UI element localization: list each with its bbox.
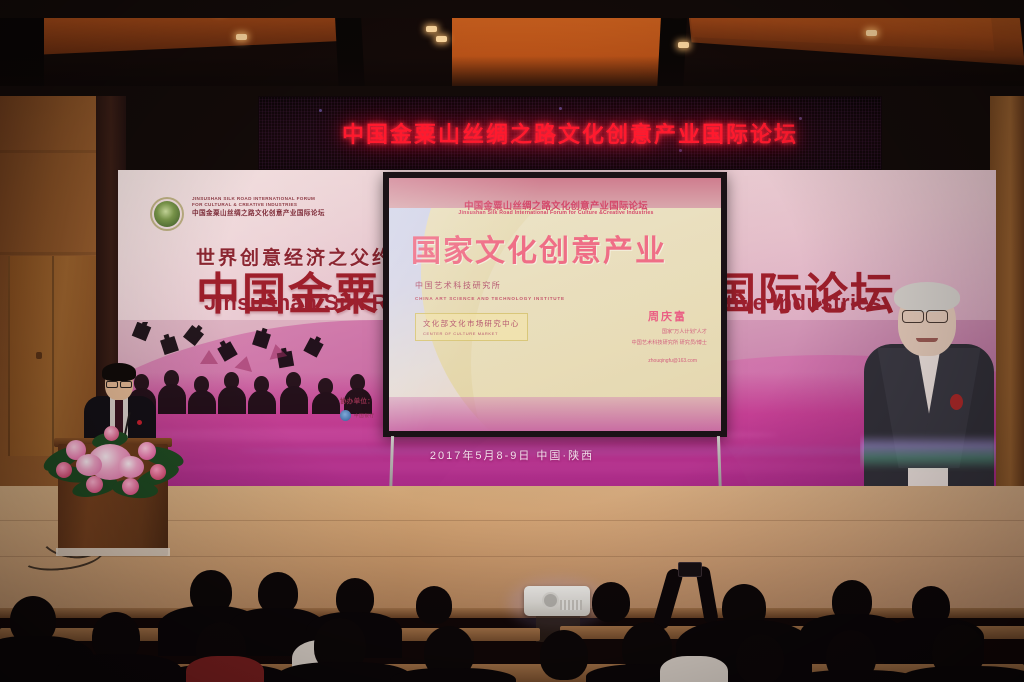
- copartner-name: 中国银行: [354, 413, 374, 419]
- audience-head: [540, 630, 588, 680]
- downlight-icon: [426, 26, 437, 32]
- audience-head: [592, 582, 630, 622]
- backdrop-english-right: eative Industries: [700, 290, 882, 316]
- led-banner: 中国金粟山丝绸之路文化创意产业国际论坛: [258, 96, 882, 170]
- audience-head: [416, 586, 452, 624]
- audience-red-shirt: [186, 656, 264, 682]
- forum-logo-icon: [150, 197, 184, 231]
- slide-glare: [389, 178, 721, 431]
- auditorium-scene: 中国金粟山丝绸之路文化创意产业国际论坛: [0, 0, 1024, 682]
- projection-screen: 中国金粟山丝绸之路文化创意产业国际论坛 Jinsushan Silk Road …: [383, 172, 727, 437]
- ceiling-top-shadow: [0, 0, 1024, 18]
- audience-shoulders: [390, 668, 516, 682]
- flower-arrangement: [42, 420, 184, 500]
- audience-head: [736, 634, 784, 682]
- smartphone-icon: [678, 562, 702, 577]
- downlight-icon: [436, 36, 447, 42]
- downlight-icon: [866, 30, 877, 36]
- forum-logo-text: JINSUSHAN SILK ROAD INTERNATIONAL FORUM …: [192, 196, 402, 219]
- speaker-hair: [102, 363, 136, 381]
- speaker-glasses-icon: [120, 381, 132, 388]
- slide-content: 中国金粟山丝绸之路文化创意产业国际论坛 Jinsushan Silk Road …: [389, 178, 721, 431]
- downlight-icon: [236, 34, 247, 40]
- audience: [0, 560, 1024, 682]
- lapel-flower-icon: [950, 394, 963, 410]
- door-knob-icon[interactable]: [36, 352, 42, 359]
- logo-english-line2: FOR CULTURAL & CREATIVE INDUSTRIES: [192, 202, 402, 208]
- downlight-icon: [678, 42, 689, 48]
- led-banner-text: 中国金粟山丝绸之路文化创意产业国际论坛: [259, 117, 881, 149]
- bank-logo-icon: [340, 410, 351, 421]
- logo-chinese: 中国金粟山丝绸之路文化创意产业国际论坛: [192, 210, 402, 219]
- podium-base-light: [56, 548, 170, 556]
- audience-white-shirt: [660, 656, 728, 682]
- audience-shoulders: [900, 666, 1024, 682]
- speaker-glasses-icon: [106, 381, 118, 388]
